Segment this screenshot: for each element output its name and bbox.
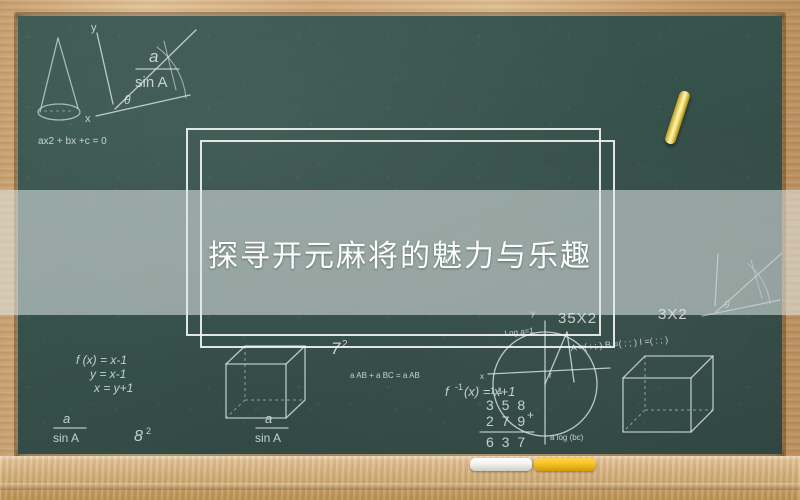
doodle-inverse-function: f bbox=[445, 384, 450, 399]
doodle-function-lines: f (x) = x-1 y = x-1 x = y+1 bbox=[76, 353, 133, 395]
svg-text:2: 2 bbox=[146, 426, 151, 436]
svg-text:-1: -1 bbox=[455, 382, 463, 392]
svg-text:1 1: 1 1 bbox=[490, 386, 503, 396]
ledge-lip bbox=[0, 483, 800, 490]
doodle-cube-right bbox=[623, 356, 713, 432]
ledge-yellow-chalk-icon bbox=[534, 458, 596, 471]
doodle-cone bbox=[38, 38, 80, 120]
doodle-fraction-sina: sin A bbox=[135, 74, 168, 91]
svg-text:x = y+1: x = y+1 bbox=[93, 381, 133, 395]
svg-text:y = x-1: y = x-1 bbox=[89, 367, 126, 381]
doodle-axes-topleft: y x θ bbox=[85, 22, 196, 125]
svg-text:x: x bbox=[85, 113, 91, 125]
doodle-fraction-a: a bbox=[149, 47, 158, 66]
svg-text:f (x) = x-1: f (x) = x-1 bbox=[76, 353, 127, 367]
doodle-fraction2-a: a bbox=[63, 411, 70, 426]
doodle-log-bc: a log (bc) bbox=[550, 433, 584, 442]
doodle-addition: 1 1 3 5 8 2 7 9 + 6 3 7 bbox=[480, 386, 534, 450]
svg-text:sin A: sin A bbox=[255, 431, 281, 445]
ledge-white-chalk-icon bbox=[470, 458, 532, 471]
chalk-ledge bbox=[0, 456, 800, 500]
svg-text:y: y bbox=[91, 22, 97, 34]
svg-text:6 3 7: 6 3 7 bbox=[486, 434, 527, 450]
chalkboard-poster: a sin A y x θ ax2 + bx +c = 0 bbox=[0, 0, 800, 500]
svg-text:+: + bbox=[527, 408, 534, 422]
svg-text:θ: θ bbox=[124, 93, 131, 107]
title-banner: 探寻开元麻将的魅力与乐趣 bbox=[0, 190, 800, 315]
page-title: 探寻开元麻将的魅力与乐趣 bbox=[208, 231, 592, 275]
doodle-cube-center bbox=[226, 346, 305, 418]
svg-text:x: x bbox=[480, 372, 484, 381]
svg-text:sin A: sin A bbox=[53, 431, 79, 445]
svg-text:r: r bbox=[549, 370, 552, 380]
doodle-small-formula: a AB + a BC = a AB bbox=[350, 371, 420, 380]
floating-yellow-chalk-icon bbox=[664, 90, 691, 146]
doodle-fraction3-a: a bbox=[265, 411, 272, 426]
doodle-quadratic: ax2 + bx +c = 0 bbox=[38, 136, 107, 147]
doodle-eight-squared: 8 bbox=[134, 428, 143, 445]
svg-text:3 5 8: 3 5 8 bbox=[486, 397, 527, 413]
svg-text:(x) = x+1: (x) = x+1 bbox=[464, 384, 515, 399]
svg-text:2 7 9: 2 7 9 bbox=[486, 413, 527, 429]
